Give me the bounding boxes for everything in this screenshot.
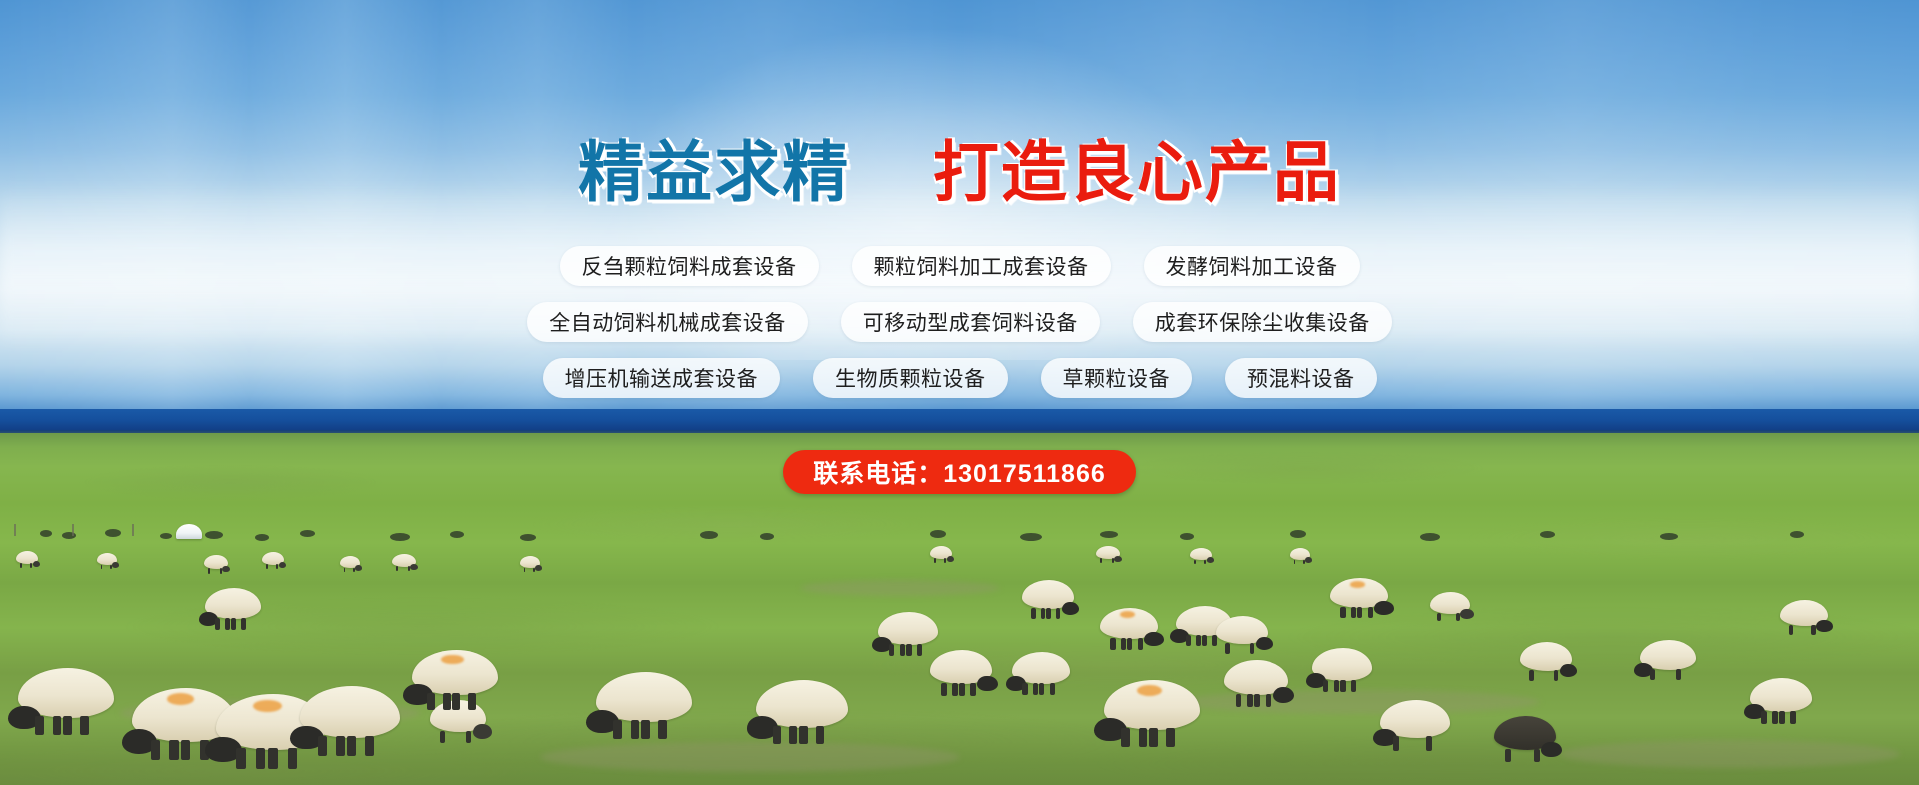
sheep-leg: [1194, 560, 1196, 565]
product-row-1: 反刍颗粒饲料成套设备 颗粒饲料加工成套设备 发酵饲料加工设备: [0, 246, 1919, 286]
sheep-paint-mark: [1137, 685, 1162, 696]
sheep-leg: [1202, 635, 1207, 646]
sheep: [204, 555, 228, 569]
sheep-head: [1460, 609, 1474, 619]
sheep-leg: [266, 564, 268, 569]
sheep-paint-mark: [253, 700, 282, 712]
sheep-leg: [1323, 680, 1328, 693]
product-pill[interactable]: 草颗粒设备: [1041, 358, 1193, 398]
sheep-leg: [1225, 643, 1230, 654]
distant-livestock: [700, 531, 718, 539]
sheep-leg: [1789, 625, 1793, 635]
product-pill[interactable]: 发酵饲料加工设备: [1144, 246, 1360, 286]
distant-livestock: [1660, 533, 1678, 540]
sheep: [1224, 660, 1288, 695]
sheep: [1430, 592, 1470, 614]
sheep-leg: [468, 693, 476, 710]
sheep: [1190, 548, 1212, 560]
sheep-head: [535, 565, 542, 571]
sheep: [1312, 648, 1372, 681]
sheep-leg: [215, 618, 220, 630]
sheep-leg: [1456, 613, 1460, 621]
sheep-leg: [952, 683, 958, 696]
sheep-leg: [1334, 680, 1339, 693]
sheep-leg: [1196, 635, 1201, 646]
sheep-leg: [1772, 711, 1778, 724]
distant-livestock: [520, 534, 536, 541]
distant-livestock: [1790, 531, 1804, 538]
sheep-leg: [1676, 669, 1681, 680]
sheep-head: [112, 562, 119, 568]
sheep: [1104, 680, 1200, 730]
distant-livestock: [450, 531, 464, 538]
sheep: [930, 650, 992, 684]
sheep-leg: [799, 726, 807, 744]
sheep: [205, 588, 261, 619]
sheep-leg: [110, 565, 112, 570]
sheep-leg: [241, 618, 246, 630]
sheep: [392, 554, 416, 567]
sheep-leg: [1247, 694, 1253, 707]
sheep-head: [1256, 637, 1274, 650]
product-row-3: 增压机输送成套设备 生物质颗粒设备 草颗粒设备 预混料设备: [0, 358, 1919, 398]
sheep-leg: [231, 618, 236, 630]
dirt-patch: [1560, 740, 1900, 768]
sheep: [878, 612, 938, 645]
sheep-leg: [1039, 683, 1044, 695]
sheep-leg: [889, 644, 894, 657]
distant-livestock: [1100, 531, 1118, 538]
sheep-leg: [318, 736, 327, 756]
sheep-leg: [1031, 608, 1036, 619]
sheep-leg: [268, 748, 278, 769]
distant-livestock: [205, 531, 223, 539]
sheep: [18, 668, 114, 718]
sheep-leg: [236, 748, 246, 769]
fence-post: [132, 524, 134, 536]
sheep-leg: [1351, 680, 1356, 693]
sheep-leg: [773, 726, 781, 744]
sheep-leg: [613, 720, 622, 739]
product-pill[interactable]: 颗粒饲料加工成套设备: [852, 246, 1111, 286]
sheep-head: [279, 562, 286, 568]
sheep-leg: [53, 716, 62, 735]
distant-livestock: [1020, 533, 1042, 541]
sheep-leg: [1110, 638, 1115, 650]
distant-livestock: [930, 530, 946, 538]
fence-post: [72, 524, 74, 536]
sheep: [1494, 716, 1556, 750]
sheep-leg: [353, 568, 355, 573]
sheep-leg: [220, 568, 222, 573]
distant-livestock: [390, 533, 410, 541]
sheep-head: [1374, 601, 1394, 615]
sheep-head: [1273, 687, 1295, 703]
sheep-head: [1816, 620, 1832, 632]
sheep-leg: [1236, 694, 1242, 707]
sheep-leg: [1437, 613, 1441, 621]
sheep-head: [1144, 632, 1164, 646]
sheep-leg: [533, 568, 535, 573]
sheep: [1100, 608, 1158, 639]
sheep: [16, 551, 38, 564]
sheep-leg: [20, 563, 22, 568]
sheep-leg: [151, 740, 160, 761]
sheep-leg: [1357, 607, 1362, 618]
sheep: [1012, 652, 1070, 684]
distant-livestock: [105, 529, 121, 537]
sheep: [596, 672, 692, 722]
sheep-leg: [336, 736, 345, 756]
sheep-leg: [80, 716, 89, 735]
hero-banner: 精益求精 打造良心产品 反刍颗粒饲料成套设备 颗粒饲料加工成套设备 发酵饲料加工…: [0, 0, 1919, 785]
distant-livestock: [760, 533, 774, 540]
headline: 精益求精 打造良心产品: [0, 139, 1919, 205]
sheep-leg: [1033, 683, 1038, 695]
sheep-leg: [1166, 728, 1175, 747]
sheep: [930, 546, 952, 559]
sheep-head: [33, 561, 40, 567]
sheep-leg: [1779, 711, 1785, 724]
sheep-leg: [288, 748, 298, 769]
sheep-leg: [1112, 558, 1114, 563]
sheep-leg: [1340, 607, 1345, 618]
sheep-leg: [970, 683, 976, 696]
sheep-leg: [466, 731, 471, 743]
distant-livestock: [255, 534, 269, 541]
sheep-paint-mark: [1120, 611, 1135, 618]
fence-post: [14, 524, 16, 536]
sheep-leg: [169, 740, 178, 761]
sheep-leg: [440, 731, 445, 743]
distant-livestock: [1290, 530, 1306, 538]
sheep-leg: [1790, 711, 1796, 724]
sheep-leg: [1303, 560, 1305, 565]
headline-blue-text: 精益求精: [578, 139, 850, 205]
sheep: [1330, 578, 1388, 608]
sheep-leg: [1139, 728, 1148, 747]
sheep-leg: [1046, 608, 1051, 619]
product-category-list: 反刍颗粒饲料成套设备 颗粒饲料加工成套设备 发酵饲料加工设备 全自动饲料机械成套…: [0, 246, 1919, 414]
sheep-leg: [365, 736, 374, 756]
sheep-leg: [1505, 749, 1511, 762]
sheep-leg: [658, 720, 667, 739]
sheep: [1022, 580, 1074, 609]
sheep-leg: [427, 693, 435, 710]
sheep-head: [355, 565, 362, 571]
sheep-leg: [641, 720, 650, 739]
sheep-head: [1207, 557, 1214, 563]
sheep: [1096, 546, 1120, 559]
sheep: [1780, 600, 1828, 626]
sheep-leg: [63, 716, 72, 735]
sheep-leg: [1351, 607, 1356, 618]
distant-livestock: [300, 530, 315, 537]
sheep-paint-mark: [1350, 581, 1365, 588]
sheep: [1520, 642, 1572, 671]
sheep: [97, 553, 117, 565]
sheep: [756, 680, 848, 728]
sheep-leg: [181, 740, 190, 761]
dirt-patch: [540, 742, 960, 772]
product-pill[interactable]: 反刍颗粒饲料成套设备: [560, 246, 819, 286]
sheep-leg: [1761, 711, 1767, 724]
sheep-leg: [816, 726, 824, 744]
sheep: [1380, 700, 1450, 738]
product-pill[interactable]: 成套环保除尘收集设备: [1133, 302, 1392, 342]
sheep-leg: [959, 683, 965, 696]
sheep-leg: [35, 716, 44, 735]
distant-livestock: [40, 530, 52, 537]
distant-livestock: [160, 533, 172, 539]
sheep-leg: [1529, 670, 1534, 681]
sheep-leg: [1050, 683, 1055, 695]
product-pill[interactable]: 增压机输送成套设备: [543, 358, 781, 398]
sheep-leg: [1056, 608, 1061, 619]
sheep-head: [947, 556, 954, 562]
contact-banner-wrap: 联系电话：13017511866: [0, 450, 1919, 494]
distant-livestock: [1420, 533, 1440, 541]
sheep-head: [473, 724, 492, 739]
product-pill[interactable]: 生物质颗粒设备: [813, 358, 1008, 398]
sheep: [412, 650, 498, 695]
sheep-leg: [1426, 736, 1432, 750]
sheep-leg: [631, 720, 640, 739]
sheep-leg: [1022, 683, 1027, 695]
sheep: [1216, 616, 1268, 644]
sheep-leg: [789, 726, 797, 744]
sheep-leg: [1186, 635, 1191, 646]
sheep-leg: [1650, 669, 1655, 680]
sheep-head: [1305, 557, 1312, 563]
sheep-leg: [1811, 625, 1815, 635]
sheep-leg: [1138, 638, 1143, 650]
sheep-leg: [1121, 638, 1126, 650]
sheep: [520, 556, 540, 568]
sheep-leg: [917, 644, 922, 657]
sheep-leg: [347, 736, 356, 756]
product-pill[interactable]: 全自动饲料机械成套设备: [527, 302, 808, 342]
sheep: [1640, 640, 1696, 670]
product-pill[interactable]: 预混料设备: [1225, 358, 1377, 398]
sheep: [340, 556, 360, 568]
sheep-leg: [1340, 680, 1345, 693]
sheep-leg: [906, 644, 911, 657]
sheep-leg: [1250, 643, 1255, 654]
contact-phone-banner[interactable]: 联系电话：13017511866: [783, 450, 1136, 494]
sheep-leg: [1368, 607, 1373, 618]
sheep-leg: [408, 566, 410, 571]
sheep-leg: [1266, 694, 1272, 707]
sheep: [262, 552, 284, 565]
product-row-2: 全自动饲料机械成套设备 可移动型成套饲料设备 成套环保除尘收集设备: [0, 302, 1919, 342]
sheep-leg: [1393, 736, 1399, 750]
sheep: [1750, 678, 1812, 712]
sheep-leg: [934, 558, 936, 563]
yurt-tent: [176, 524, 202, 539]
sheep-leg: [941, 683, 947, 696]
sheep-leg: [256, 748, 266, 769]
sheep-leg: [1254, 694, 1260, 707]
dirt-patch: [800, 580, 1000, 596]
sheep-leg: [452, 693, 460, 710]
sheep-leg: [1041, 608, 1046, 619]
distant-livestock: [1180, 533, 1194, 540]
sheep-leg: [900, 644, 905, 657]
headline-red-text: 打造良心产品: [933, 139, 1341, 205]
sheep-leg: [443, 693, 451, 710]
sheep-leg: [1121, 728, 1130, 747]
sheep-paint-mark: [441, 655, 463, 665]
sheep-leg: [1127, 638, 1132, 650]
sheep-leg: [1534, 749, 1540, 762]
sheep: [1290, 548, 1310, 560]
sheep-leg: [225, 618, 230, 630]
sheep-leg: [1149, 728, 1158, 747]
sheep-leg: [1554, 670, 1559, 681]
product-pill[interactable]: 可移动型成套饲料设备: [841, 302, 1100, 342]
distant-livestock: [1540, 531, 1555, 538]
sheep: [300, 686, 400, 738]
